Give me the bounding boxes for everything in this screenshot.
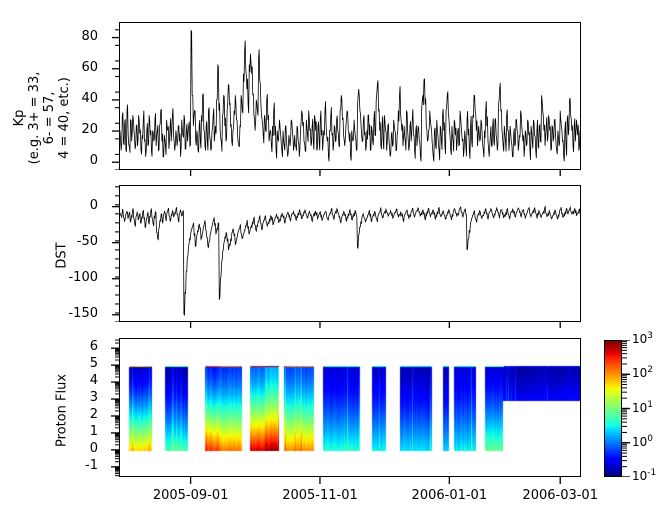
dst-plot-panel[interactable] — [119, 185, 581, 322]
protonflux-axis-ticks — [100, 338, 120, 477]
protonflux-xaxis-ticks — [119, 477, 581, 486]
protonflux-ytick-label: 0 — [58, 441, 98, 456]
kp-ytick-label: 20 — [60, 122, 98, 137]
dst-ytick-label: -100 — [52, 270, 98, 285]
kp-ytick-label: 0 — [60, 153, 98, 168]
colorbar-tick-label: 100 — [632, 434, 653, 449]
xaxis-tick-label: 2006-03-01 — [510, 488, 610, 503]
kp-plot-panel[interactable] — [119, 22, 581, 170]
protonflux-ytick-label: 1 — [58, 424, 98, 439]
protonflux-ytick-label: 4 — [58, 373, 98, 388]
dst-xaxis-ticks — [119, 322, 581, 330]
kp-timeseries-plot — [120, 23, 580, 169]
protonflux-ytick-label: 6 — [58, 339, 98, 354]
kp-ytick-label: 40 — [60, 91, 98, 106]
kp-axis-label-line-0: Kp — [12, 110, 27, 127]
kp-axis-ticks — [100, 22, 120, 170]
protonflux-ytick-label: 3 — [58, 390, 98, 405]
colorbar-tick-label: 101 — [632, 400, 653, 415]
figure-canvas: Kp (e.g. 3+ = 33, 6- = 57, 4 = 40, etc.)… — [0, 0, 665, 523]
dst-ytick-label: -50 — [52, 234, 98, 249]
kp-ytick-label: 60 — [60, 60, 98, 75]
protonflux-spectrogram — [120, 339, 581, 477]
kp-axis-label-line-3: 4 = 40, etc.) — [57, 77, 72, 159]
xaxis-tick-label: 2005-11-01 — [270, 488, 370, 503]
protonflux-ytick-label: -1 — [58, 458, 98, 473]
dst-timeseries-plot — [120, 186, 580, 321]
kp-axis-label-line-1: (e.g. 3+ = 33, — [27, 72, 42, 165]
dst-ytick-label: -150 — [52, 306, 98, 321]
kp-ytick-label: 80 — [60, 29, 98, 44]
dst-axis-ticks — [100, 185, 120, 322]
kp-xaxis-ticks — [119, 170, 581, 178]
kp-axis-label-line-2: 6- = 57, — [42, 92, 57, 145]
protonflux-ytick-label: 5 — [58, 356, 98, 371]
dst-ytick-label: 0 — [52, 198, 98, 213]
colorbar-ticks — [622, 340, 631, 477]
colorbar-tick-label: 103 — [632, 331, 653, 346]
colorbar-gradient — [604, 340, 622, 477]
xaxis-tick-label: 2005-09-01 — [141, 488, 241, 503]
xaxis-tick-label: 2006-01-01 — [399, 488, 499, 503]
protonflux-plot-panel[interactable] — [119, 338, 581, 477]
colorbar-tick-label: 10-1 — [632, 468, 656, 483]
protonflux-ytick-label: 2 — [58, 407, 98, 422]
colorbar-tick-label: 102 — [632, 365, 653, 380]
